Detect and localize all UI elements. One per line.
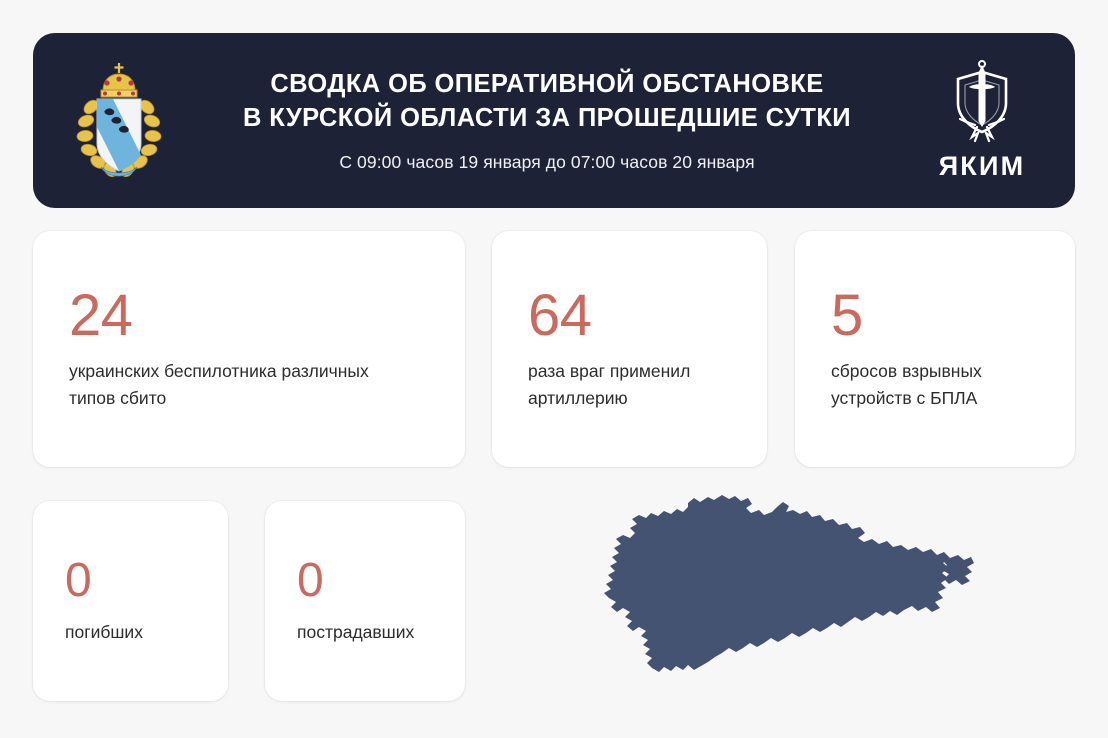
stat-value: 0: [65, 557, 196, 605]
stat-card-injured: 0 пострадавших: [265, 501, 465, 701]
stat-value: 0: [297, 557, 433, 605]
stat-label: сбросов взрывных устройств с БПЛА: [831, 358, 1039, 411]
page-title: СВОДКА ОБ ОПЕРАТИВНОЙ ОБСТАНОВКЕ В КУРСК…: [181, 68, 913, 135]
kursk-oblast-map: [596, 484, 976, 714]
header-text-block: СВОДКА ОБ ОПЕРАТИВНОЙ ОБСТАНОВКЕ В КУРСК…: [171, 68, 923, 173]
kursk-oblast-coat-of-arms-icon: [67, 57, 171, 185]
shield-with-sword-icon: [944, 59, 1020, 143]
report-header: СВОДКА ОБ ОПЕРАТИВНОЙ ОБСТАНОВКЕ В КУРСК…: [33, 33, 1075, 208]
stat-label: пострадавших: [297, 619, 433, 646]
stat-card-explosive-drops: 5 сбросов взрывных устройств с БПЛА: [795, 231, 1075, 467]
kursk-oblast-map-icon: [596, 484, 976, 714]
stat-card-killed: 0 погибших: [33, 501, 228, 701]
stat-value: 64: [528, 287, 731, 345]
brand-name: ЯКИМ: [939, 151, 1026, 182]
stat-value: 5: [831, 287, 1039, 345]
stat-label: погибших: [65, 619, 196, 646]
stat-label: раза враг применил артиллерию: [528, 358, 731, 411]
report-period: С 09:00 часов 19 января до 07:00 часов 2…: [181, 152, 913, 173]
brand-block: ЯКИМ: [923, 59, 1041, 182]
stat-label: украинских беспилотника различных типов …: [69, 358, 429, 411]
stat-value: 24: [69, 287, 429, 345]
stat-card-drones-downed: 24 украинских беспилотника различных тип…: [33, 231, 465, 467]
stat-card-artillery-strikes: 64 раза враг применил артиллерию: [492, 231, 767, 467]
